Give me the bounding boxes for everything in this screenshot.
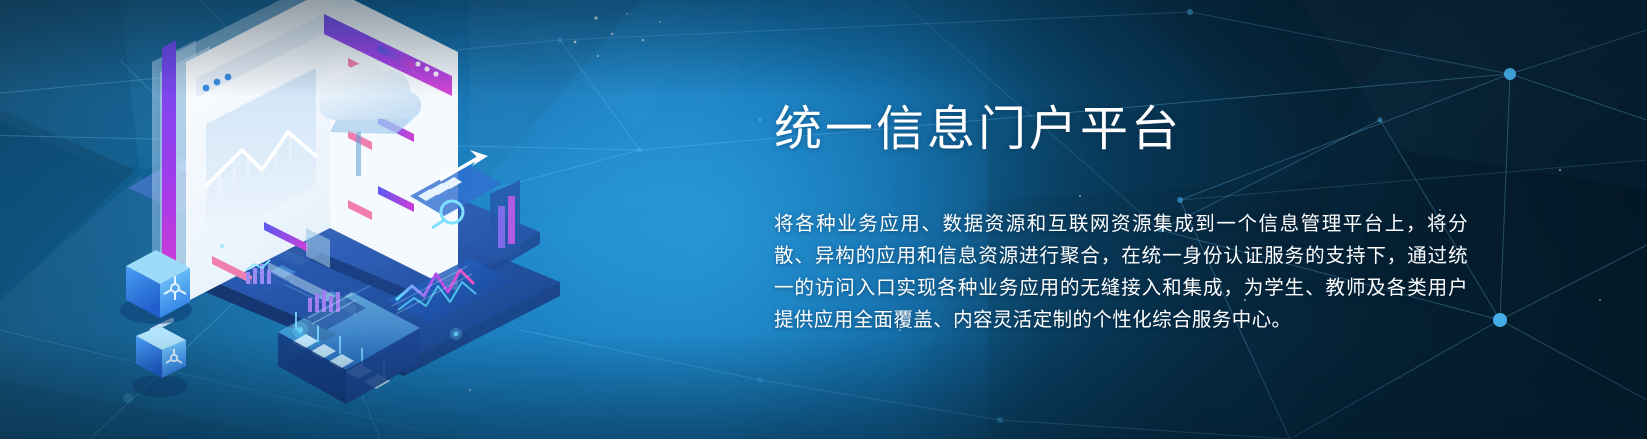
banner-description: 将各种业务应用、数据资源和互联网资源集成到一个信息管理平台上，将分散、异构的应用… [774,208,1468,336]
banner-content: 统一信息门户平台 将各种业务应用、数据资源和互联网资源集成到一个信息管理平台上，… [772,0,1472,439]
banner-title: 统一信息门户平台 [774,89,1182,159]
hero-banner: 统一信息门户平台 将各种业务应用、数据资源和互联网资源集成到一个信息管理平台上，… [0,0,1647,439]
